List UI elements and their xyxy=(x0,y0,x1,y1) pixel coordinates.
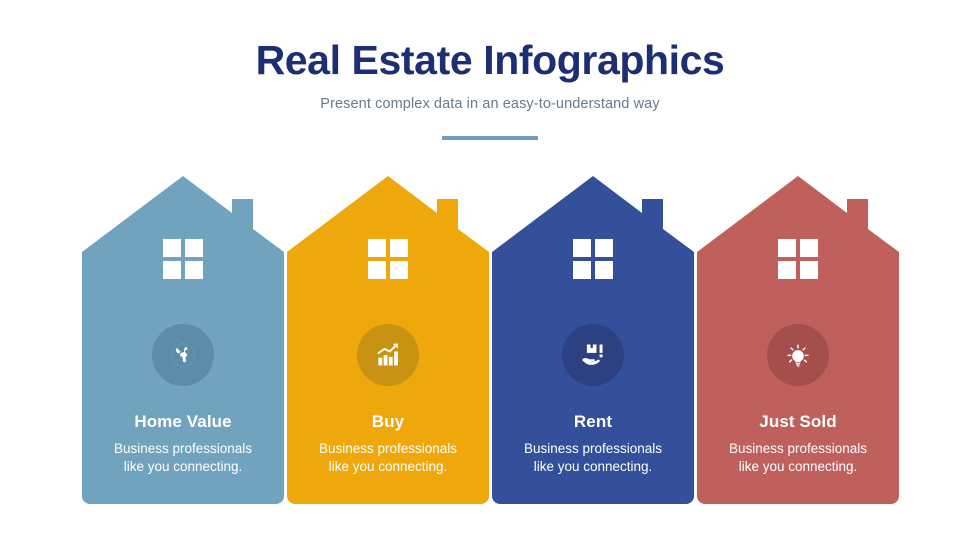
house-card-content: Buy Business professionals like you conn… xyxy=(287,176,489,504)
window-pane xyxy=(778,261,796,279)
house-card[interactable]: Home Value Business professionals like y… xyxy=(82,176,284,504)
window-pane xyxy=(185,261,203,279)
icon-badge xyxy=(767,324,829,386)
card-title: Rent xyxy=(492,412,694,432)
window-pane xyxy=(163,261,181,279)
house-cards-row: Home Value Business professionals like y… xyxy=(0,176,980,506)
title-divider xyxy=(442,136,538,140)
page-subtitle: Present complex data in an easy-to-under… xyxy=(0,96,980,113)
header: Real Estate Infographics Present complex… xyxy=(0,38,980,145)
window-icon xyxy=(778,239,818,279)
divider-container xyxy=(0,127,980,145)
window-pane xyxy=(778,239,796,257)
window-pane xyxy=(800,261,818,279)
window-pane xyxy=(595,239,613,257)
globe-icon xyxy=(168,340,198,370)
card-description: Business professionals like you connecti… xyxy=(82,440,284,476)
house-card[interactable]: Buy Business professionals like you conn… xyxy=(287,176,489,504)
bar-chart-growth-icon xyxy=(374,341,402,369)
icon-badge xyxy=(562,324,624,386)
window-pane xyxy=(163,239,181,257)
window-pane xyxy=(595,261,613,279)
card-title: Home Value xyxy=(82,412,284,432)
card-title: Buy xyxy=(287,412,489,432)
page-title: Real Estate Infographics xyxy=(0,38,980,84)
window-icon xyxy=(368,239,408,279)
window-icon xyxy=(163,239,203,279)
window-pane xyxy=(368,239,386,257)
icon-badge xyxy=(357,324,419,386)
window-pane xyxy=(390,239,408,257)
card-description: Business professionals like you connecti… xyxy=(492,440,694,476)
window-pane xyxy=(573,261,591,279)
card-description: Business professionals like you connecti… xyxy=(697,440,899,476)
house-card-content: Just Sold Business professionals like yo… xyxy=(697,176,899,504)
card-description: Business professionals like you connecti… xyxy=(287,440,489,476)
house-card-content: Rent Business professionals like you con… xyxy=(492,176,694,504)
window-pane xyxy=(368,261,386,279)
house-card[interactable]: Just Sold Business professionals like yo… xyxy=(697,176,899,504)
window-pane xyxy=(185,239,203,257)
window-pane xyxy=(390,261,408,279)
house-card-content: Home Value Business professionals like y… xyxy=(82,176,284,504)
window-icon xyxy=(573,239,613,279)
window-pane xyxy=(573,239,591,257)
house-card[interactable]: Rent Business professionals like you con… xyxy=(492,176,694,504)
card-title: Just Sold xyxy=(697,412,899,432)
infographic-slide: Real Estate Infographics Present complex… xyxy=(0,0,980,551)
window-pane xyxy=(800,239,818,257)
lightbulb-icon xyxy=(783,340,813,370)
icon-badge xyxy=(152,324,214,386)
hand-holding-house-icon xyxy=(579,341,607,369)
